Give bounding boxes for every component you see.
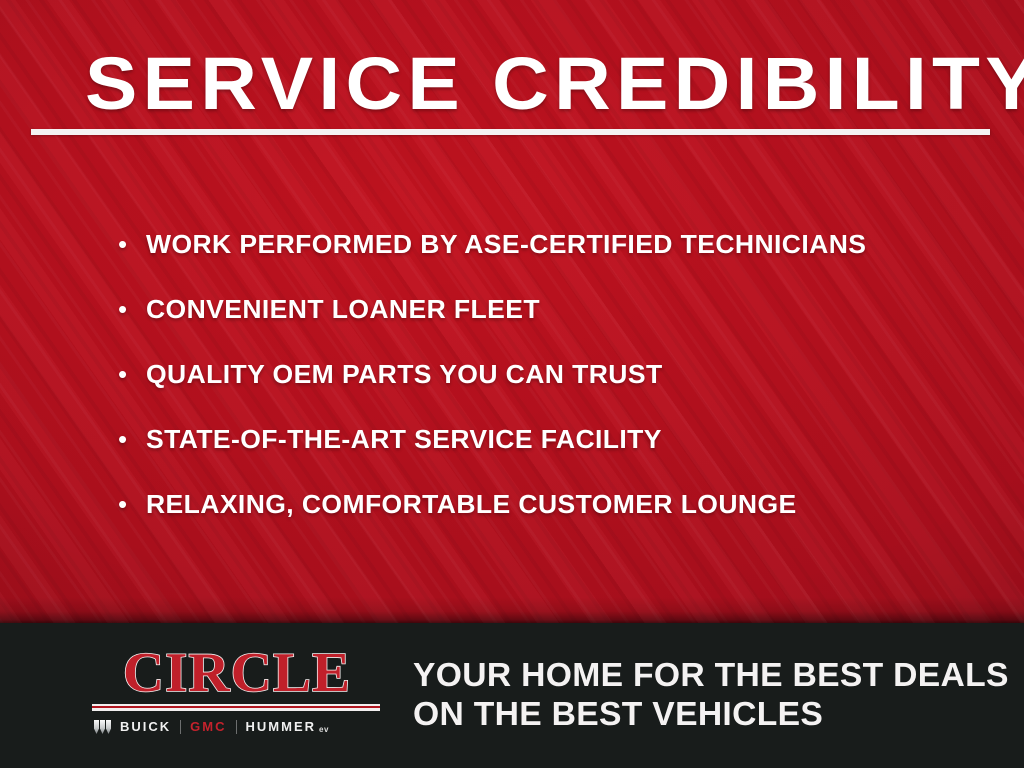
footer-tagline-line-2: ON THE BEST VEHICLES: [413, 694, 1009, 733]
footer-tagline-line-1: YOUR HOME FOR THE BEST DEALS: [413, 655, 1009, 694]
list-item: • RELAXING, COMFORTABLE CUSTOMER LOUNGE: [118, 488, 978, 553]
list-item-label: CONVENIENT LOANER FLEET: [146, 293, 540, 325]
bullet-dot-icon: •: [118, 228, 146, 260]
logo-underline: [92, 704, 380, 711]
dealer-logo: CIRCLE BUICK GMC HUMMER ev: [92, 645, 382, 736]
brand-separator-icon: [180, 720, 181, 734]
bullet-dot-icon: •: [118, 293, 146, 325]
brand-label-hummer: HUMMER: [246, 720, 317, 734]
slide-canvas: SERVICE CREDIBILITY • WORK PERFORMED BY …: [0, 0, 1024, 768]
list-item: • WORK PERFORMED BY ASE-CERTIFIED TECHNI…: [118, 228, 978, 293]
page-title: SERVICE CREDIBILITY: [85, 44, 1024, 124]
brand-strip: BUICK GMC HUMMER ev: [92, 718, 382, 736]
list-item-label: RELAXING, COMFORTABLE CUSTOMER LOUNGE: [146, 488, 797, 520]
buick-tri-shield-icon: [94, 720, 111, 734]
dealer-wordmark: CIRCLE: [89, 645, 385, 701]
list-item: • QUALITY OEM PARTS YOU CAN TRUST: [118, 358, 978, 423]
brand-label-hummer-ev-suffix: ev: [319, 725, 329, 734]
list-item-label: WORK PERFORMED BY ASE-CERTIFIED TECHNICI…: [146, 228, 866, 260]
feature-list: • WORK PERFORMED BY ASE-CERTIFIED TECHNI…: [118, 228, 978, 553]
background-bottom-fade: [0, 597, 1024, 623]
bullet-dot-icon: •: [118, 423, 146, 455]
bullet-dot-icon: •: [118, 488, 146, 520]
brand-label-buick: BUICK: [120, 720, 171, 734]
bullet-dot-icon: •: [118, 358, 146, 390]
list-item-label: QUALITY OEM PARTS YOU CAN TRUST: [146, 358, 663, 390]
brand-label-gmc: GMC: [190, 720, 226, 734]
list-item: • CONVENIENT LOANER FLEET: [118, 293, 978, 358]
list-item-label: STATE-OF-THE-ART SERVICE FACILITY: [146, 423, 662, 455]
brand-separator-icon: [236, 720, 237, 734]
title-divider: [31, 129, 990, 135]
footer-tagline: YOUR HOME FOR THE BEST DEALS ON THE BEST…: [413, 655, 1009, 733]
list-item: • STATE-OF-THE-ART SERVICE FACILITY: [118, 423, 978, 488]
